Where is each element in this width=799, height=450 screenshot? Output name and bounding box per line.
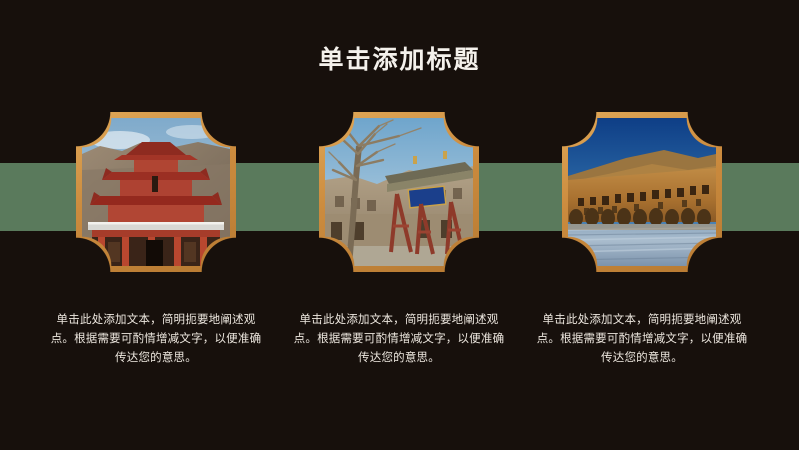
mogao-caves-cliff-frozen-river-photo[interactable]: [568, 118, 716, 266]
card-caption: 单击此处添加文本，简明扼要地阐述观点。根据需要可酌情增减文字，以便准确传达您的意…: [46, 311, 266, 368]
content-card[interactable]: 单击此处添加文本，简明扼要地阐述观点。根据需要可酌情增减文字，以便准确传达您的意…: [532, 112, 752, 272]
card-caption: 单击此处添加文本，简明扼要地阐述观点。根据需要可酌情增减文字，以便准确传达您的意…: [289, 311, 509, 368]
page-title: 单击添加标题: [0, 44, 799, 76]
content-card[interactable]: 单击此处添加文本，简明扼要地阐述观点。根据需要可酌情增减文字，以便准确传达您的意…: [46, 112, 266, 272]
mogao-caves-gate-winter-tree-photo[interactable]: [325, 118, 473, 266]
photo-frame[interactable]: [76, 112, 236, 272]
slide-canvas: 单击添加标题: [0, 0, 799, 450]
content-card[interactable]: 单击此处添加文本，简明扼要地阐述观点。根据需要可酌情增减文字，以便准确传达您的意…: [289, 112, 509, 272]
cards-row: 单击此处添加文本，简明扼要地阐述观点。根据需要可酌情增减文字，以便准确传达您的意…: [0, 112, 799, 392]
card-caption: 单击此处添加文本，简明扼要地阐述观点。根据需要可酌情增减文字，以便准确传达您的意…: [532, 311, 752, 368]
mogao-caves-nine-story-pagoda-photo[interactable]: [82, 118, 230, 266]
photo-frame[interactable]: [319, 112, 479, 272]
photo-frame[interactable]: [562, 112, 722, 272]
